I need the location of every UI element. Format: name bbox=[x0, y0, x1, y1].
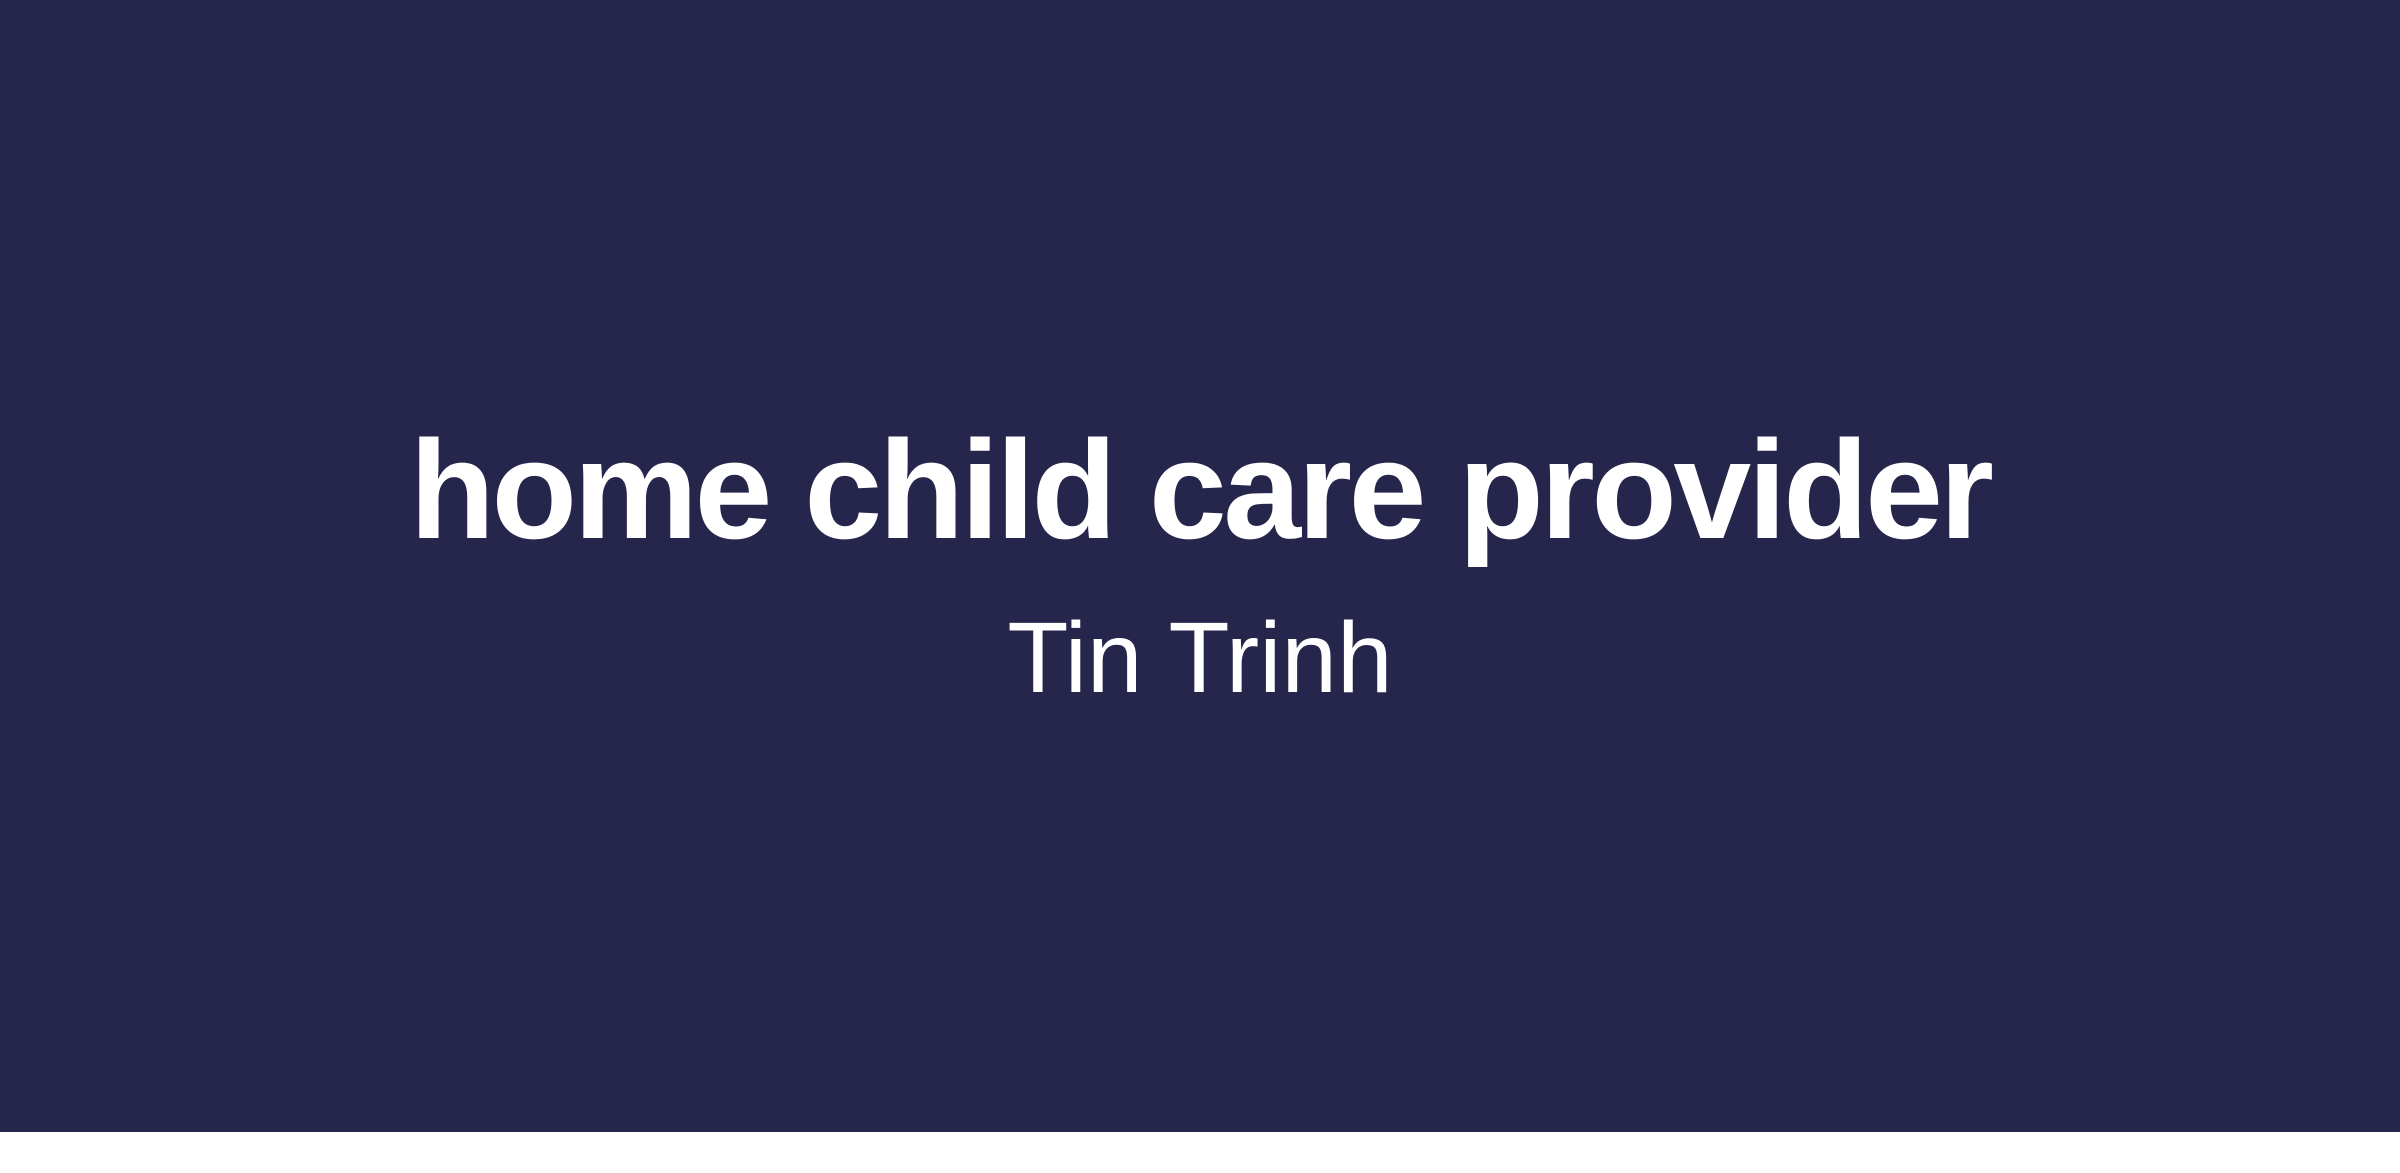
title-slide: home child care provider Tin Trinh bbox=[0, 0, 2400, 1173]
title-panel: home child care provider Tin Trinh bbox=[0, 0, 2400, 1132]
bottom-white-band bbox=[0, 1132, 2400, 1173]
page-title: home child care provider bbox=[0, 415, 2400, 565]
slide-subtitle: Tin Trinh bbox=[0, 603, 2400, 713]
